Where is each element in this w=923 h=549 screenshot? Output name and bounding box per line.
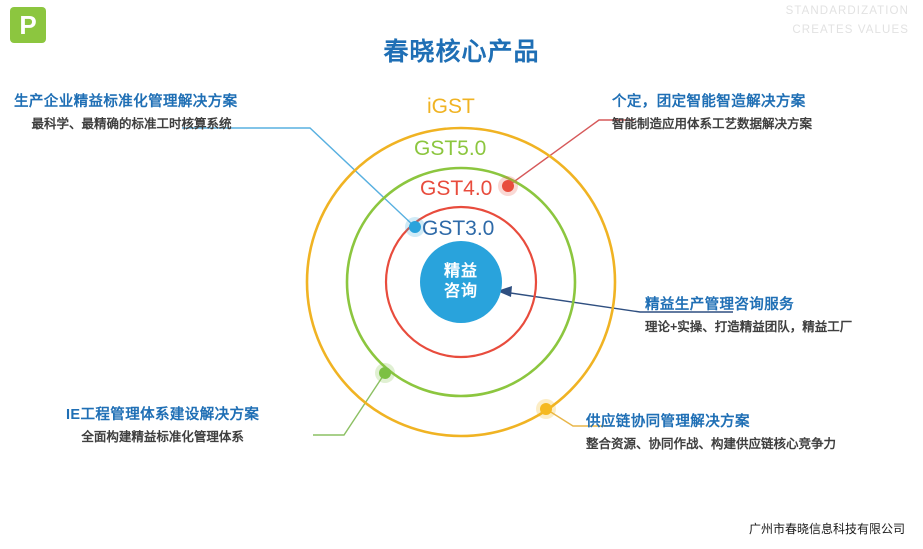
ring-label-gst40: GST4.0 xyxy=(420,177,492,201)
callout-top-left-title: 生产企业精益标准化管理解决方案 xyxy=(14,92,238,112)
callout-bottom-right-subtitle: 整合资源、协同作战、构建供应链核心竞争力 xyxy=(586,434,836,454)
connector-top-left xyxy=(182,128,415,227)
callout-middle-right-subtitle: 理论+实操、打造精益团队，精益工厂 xyxy=(645,317,852,337)
callout-middle-right: 精益生产管理咨询服务 理论+实操、打造精益团队，精益工厂 xyxy=(645,295,852,337)
blue-node-icon xyxy=(409,221,421,233)
footer-company-name: 广州市春晓信息科技有限公司 xyxy=(749,520,905,537)
callout-top-left: 生产企业精益标准化管理解决方案 最科学、最精确的标准工时核算系统 xyxy=(14,92,238,134)
ring-label-igst: iGST xyxy=(427,95,475,119)
callout-bottom-right-title: 供应链协同管理解决方案 xyxy=(586,412,836,432)
callout-bottom-left-title: IE工程管理体系建设解决方案 xyxy=(66,405,259,425)
callout-bottom-right: 供应链协同管理解决方案 整合资源、协同作战、构建供应链核心竞争力 xyxy=(586,412,836,454)
red-node-icon xyxy=(502,180,514,192)
callout-top-right-title: 个定，团定智能智造解决方案 xyxy=(612,92,812,112)
core-label: 精益 咨询 xyxy=(421,262,501,302)
callout-middle-right-title: 精益生产管理咨询服务 xyxy=(645,295,852,315)
callout-bottom-left-subtitle: 全面构建精益标准化管理体系 xyxy=(66,427,259,447)
callout-top-left-subtitle: 最科学、最精确的标准工时核算系统 xyxy=(14,114,238,134)
callout-bottom-left: IE工程管理体系建设解决方案 全面构建精益标准化管理体系 xyxy=(66,405,259,447)
core-label-line-1: 精益 xyxy=(421,262,501,282)
slide-canvas: P STANDARDIZATION CREATES VALUES 春晓核心产品 xyxy=(0,0,923,549)
callout-top-right-subtitle: 智能制造应用体系工艺数据解决方案 xyxy=(612,114,812,134)
yellow-node-icon xyxy=(540,403,552,415)
ring-label-gst50: GST5.0 xyxy=(414,137,486,161)
green-node-icon xyxy=(379,367,391,379)
core-label-line-2: 咨询 xyxy=(421,282,501,302)
connector-bottom-left xyxy=(313,373,385,435)
callout-top-right: 个定，团定智能智造解决方案 智能制造应用体系工艺数据解决方案 xyxy=(612,92,812,134)
ring-label-gst30: GST3.0 xyxy=(422,217,494,241)
